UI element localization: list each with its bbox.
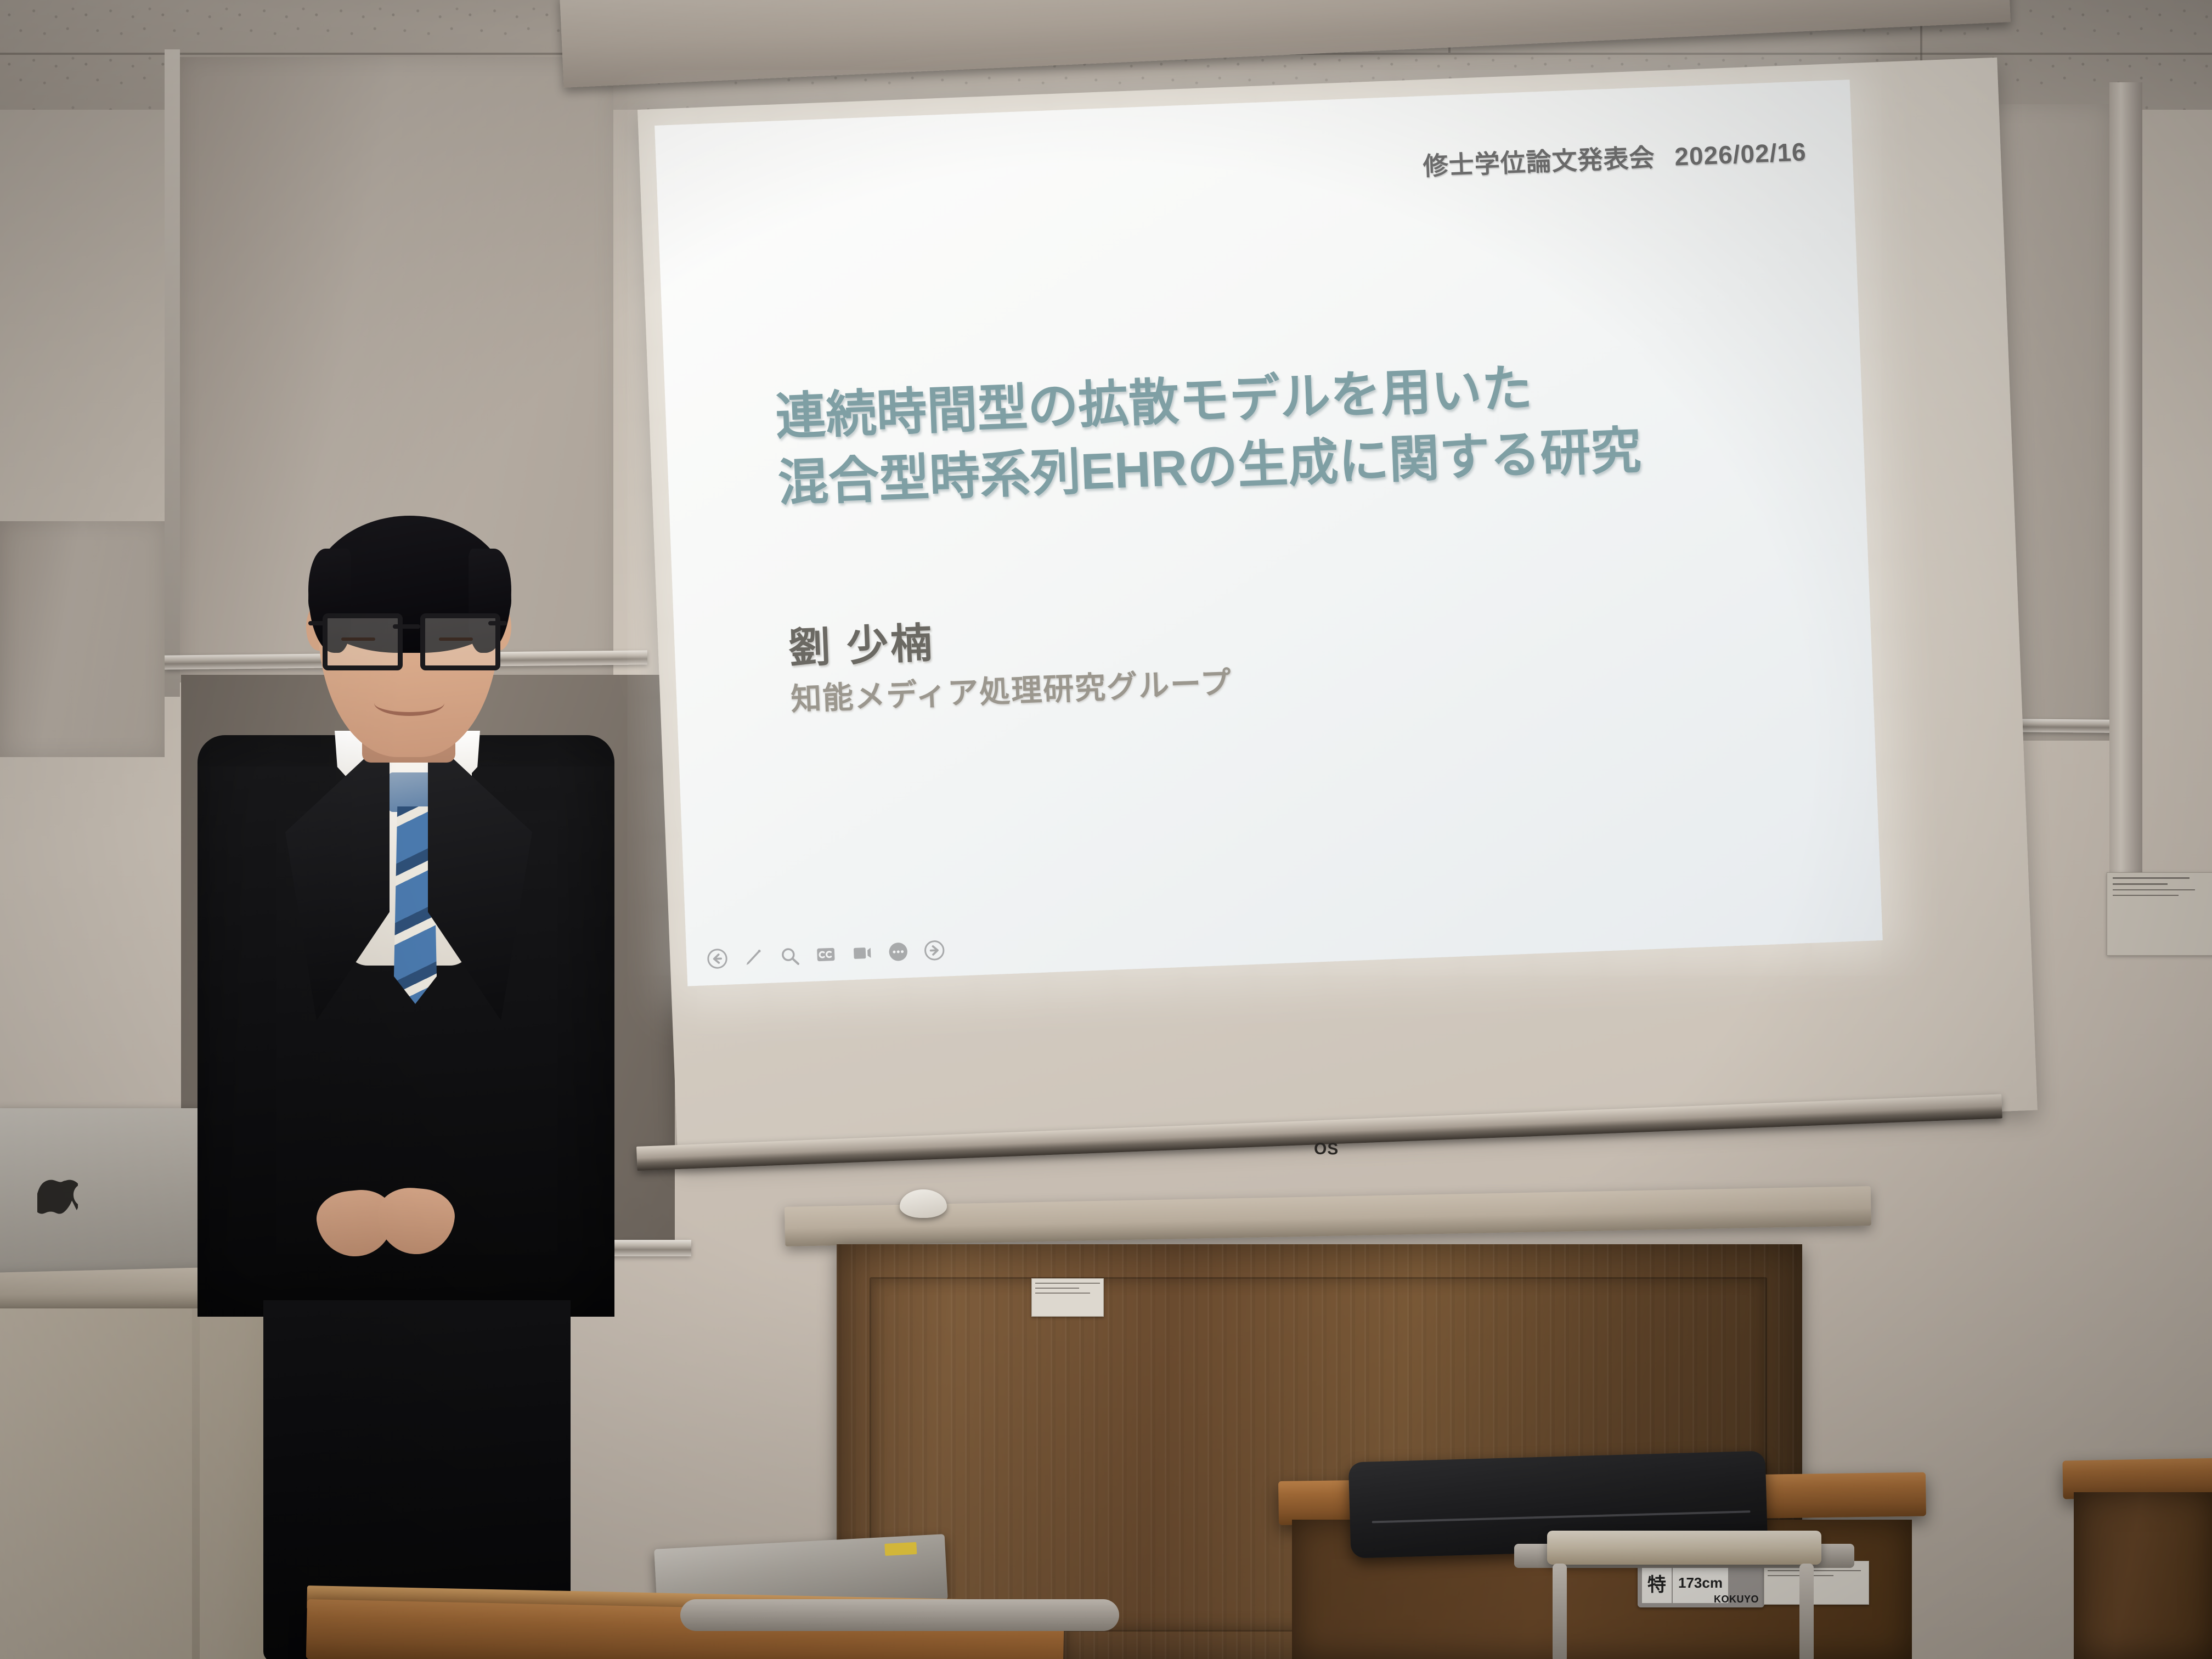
next-slide-button[interactable] bbox=[922, 938, 947, 963]
sliding-board-left-lower bbox=[0, 521, 165, 757]
projection-screen: 修士学位論文発表会2026/02/16 連続時間型の拡散モデルを用いた 混合型時… bbox=[637, 58, 2038, 1163]
chair-right bbox=[1514, 1531, 1854, 1659]
glasses-temple-left bbox=[308, 621, 327, 625]
label-text-line bbox=[1035, 1293, 1090, 1294]
slide-author: 劉 少楠 bbox=[788, 609, 935, 675]
notice-text-line bbox=[2113, 883, 2168, 885]
lectern-equipment-label bbox=[1031, 1278, 1104, 1317]
projected-slide: 修士学位論文発表会2026/02/16 連続時間型の拡散モデルを用いた 混合型時… bbox=[654, 80, 1883, 986]
screen-brand-mark: OS bbox=[1314, 1140, 1339, 1159]
wall-notice bbox=[2107, 872, 2212, 956]
slide-header-date: 2026/02/16 bbox=[1674, 137, 1807, 171]
closed-caption-icon bbox=[815, 943, 838, 966]
presenter bbox=[181, 516, 631, 1659]
label-text-line bbox=[1035, 1283, 1100, 1284]
board-frame-left bbox=[165, 49, 180, 697]
pen-icon bbox=[742, 946, 765, 969]
mouth-smiling bbox=[374, 690, 444, 716]
arrow-right-circle-icon bbox=[923, 939, 946, 962]
apple-logo-icon bbox=[37, 1167, 78, 1216]
presenter-view-button[interactable] bbox=[849, 941, 874, 966]
arrow-left-circle-icon bbox=[706, 947, 729, 970]
slide-title: 連続時間型の拡散モデルを用いた 混合型時系列EHRの生成に関する研究 bbox=[774, 351, 1642, 517]
notice-text-line bbox=[2113, 889, 2195, 890]
student-desk-far-right-front bbox=[2074, 1492, 2212, 1659]
label-text-line bbox=[1035, 1288, 1079, 1289]
laptop-sticker bbox=[884, 1542, 917, 1556]
powerpoint-slideshow-toolbar[interactable] bbox=[705, 938, 947, 972]
glasses-lens-left bbox=[323, 613, 403, 670]
ellipsis-circle-icon bbox=[887, 940, 910, 963]
notice-text-line bbox=[2113, 895, 2179, 896]
eye-right-closed bbox=[439, 637, 473, 641]
glasses-temple-right bbox=[488, 621, 507, 625]
pen-tool-button[interactable] bbox=[741, 945, 766, 970]
glasses-bridge bbox=[393, 624, 420, 629]
chair-front-left bbox=[680, 1594, 1119, 1659]
more-options-button[interactable] bbox=[885, 939, 911, 964]
slide-header-event: 修士学位論文発表会 bbox=[1423, 143, 1656, 180]
bag-zipper bbox=[1372, 1510, 1751, 1523]
chair-leg bbox=[1799, 1564, 1814, 1659]
chair-backrest bbox=[1547, 1531, 1821, 1565]
subtitles-button[interactable] bbox=[814, 942, 839, 967]
screen-icon bbox=[851, 942, 874, 965]
chair-backrest-rail bbox=[680, 1599, 1119, 1631]
eye-left-closed bbox=[341, 637, 375, 641]
slide-header: 修士学位論文発表会2026/02/16 bbox=[1422, 132, 1807, 183]
zoom-button[interactable] bbox=[777, 944, 803, 969]
previous-slide-button[interactable] bbox=[705, 946, 730, 972]
door-frame-right bbox=[2109, 82, 2142, 905]
chair-leg bbox=[1553, 1564, 1567, 1659]
magnifier-icon bbox=[778, 945, 802, 968]
lecture-room-scene: 修士学位論文発表会2026/02/16 連続時間型の拡散モデルを用いた 混合型時… bbox=[0, 0, 2212, 1659]
notice-text-line bbox=[2113, 877, 2190, 879]
